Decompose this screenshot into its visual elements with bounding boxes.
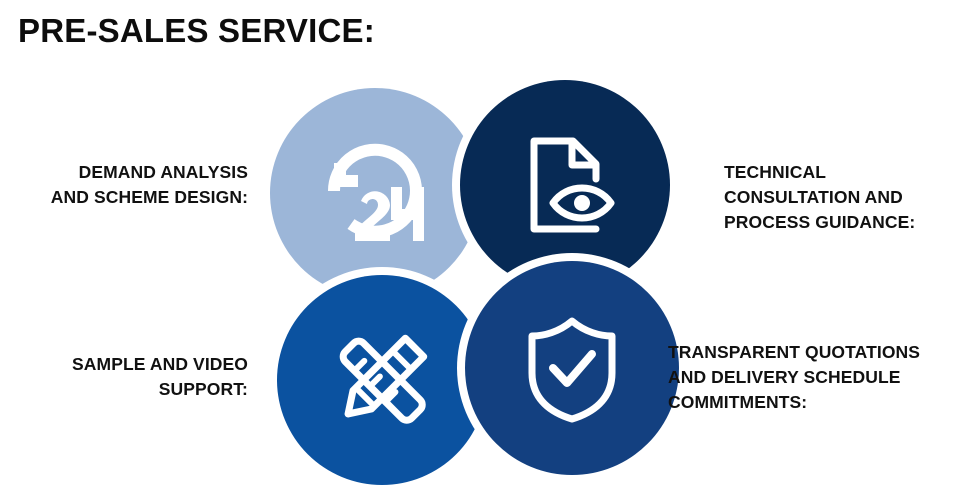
circle-transparent-quotations[interactable] (457, 253, 687, 483)
label-technical-consultation: TECHNICAL CONSULTATION AND PROCESS GUIDA… (724, 160, 956, 235)
circle-transparent-quotations-shape (465, 261, 679, 475)
circle-demand-analysis[interactable] (270, 88, 480, 298)
label-demand-analysis: DEMAND ANALYSIS AND SCHEME DESIGN: (0, 160, 248, 210)
label-transparent-quotations: TRANSPARENT QUOTATIONS AND DELIVERY SCHE… (668, 340, 960, 415)
pre-sales-service-diagram (0, 0, 960, 498)
circle-sample-video-shape (277, 275, 487, 485)
label-sample-video: SAMPLE AND VIDEO SUPPORT: (0, 352, 248, 402)
four-circle-venn-graphic (0, 0, 960, 498)
